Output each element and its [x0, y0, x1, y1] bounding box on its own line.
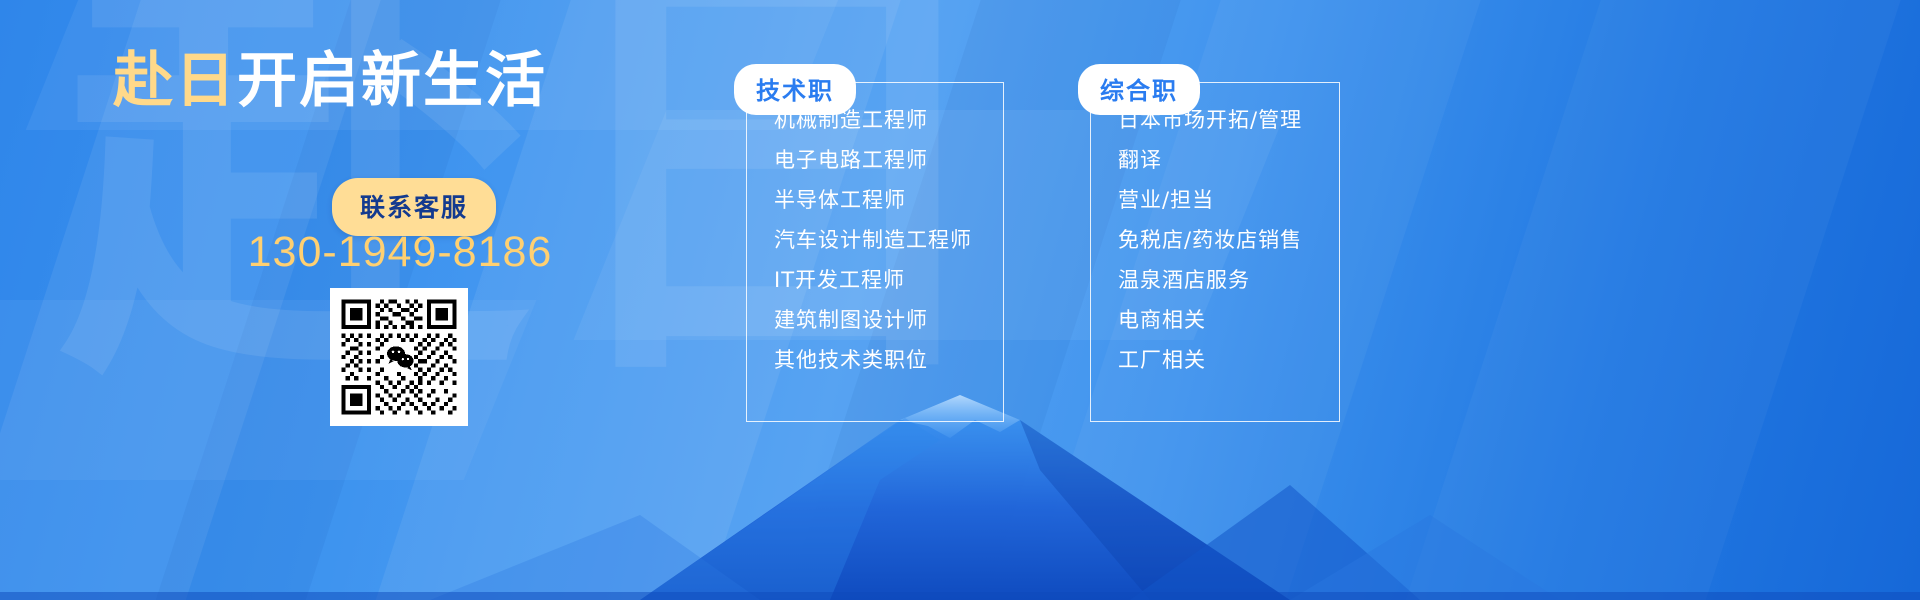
wechat-qr-code[interactable] [330, 288, 468, 426]
list-item[interactable]: 工厂相关 [1118, 350, 1302, 371]
page-title: 赴日开启新生活 [0, 48, 660, 114]
list-item[interactable]: 电商相关 [1118, 310, 1302, 331]
panel-badge-technical: 技术职 [734, 64, 856, 115]
list-item[interactable]: 汽车设计制造工程师 [774, 230, 972, 251]
panel-badge-general: 综合职 [1078, 64, 1200, 115]
qr-code-image [337, 295, 461, 419]
list-item[interactable]: 建筑制图设计师 [774, 310, 972, 331]
decor-band [1390, 0, 1911, 600]
headline-highlight: 赴日 [113, 46, 237, 116]
list-item[interactable]: 营业/担当 [1118, 190, 1302, 211]
job-list-technical: 机械制造工程师 电子电路工程师 半导体工程师 汽车设计制造工程师 IT开发工程师… [774, 110, 972, 390]
list-item[interactable]: 翻译 [1118, 150, 1302, 171]
phone-number[interactable]: 130-1949-8186 [0, 228, 800, 277]
job-list-general: 日本市场开拓/管理 翻译 营业/担当 免税店/药妆店销售 温泉酒店服务 电商相关… [1118, 110, 1302, 390]
list-item[interactable]: 其他技术类职位 [774, 350, 972, 371]
list-item[interactable]: 半导体工程师 [774, 190, 972, 211]
left-content: 赴日开启新生活 联系客服 130-1949-8186 [0, 0, 660, 600]
list-item[interactable]: 免税店/药妆店销售 [1118, 230, 1302, 251]
list-item[interactable]: IT开发工程师 [774, 270, 972, 291]
headline-rest: 开启新生活 [237, 46, 547, 116]
list-item[interactable]: 温泉酒店服务 [1118, 270, 1302, 291]
list-item[interactable]: 电子电路工程师 [774, 150, 972, 171]
promo-banner: 赴日 赴日开启新生活 联系客服 130-1949-8186 [0, 0, 1920, 600]
